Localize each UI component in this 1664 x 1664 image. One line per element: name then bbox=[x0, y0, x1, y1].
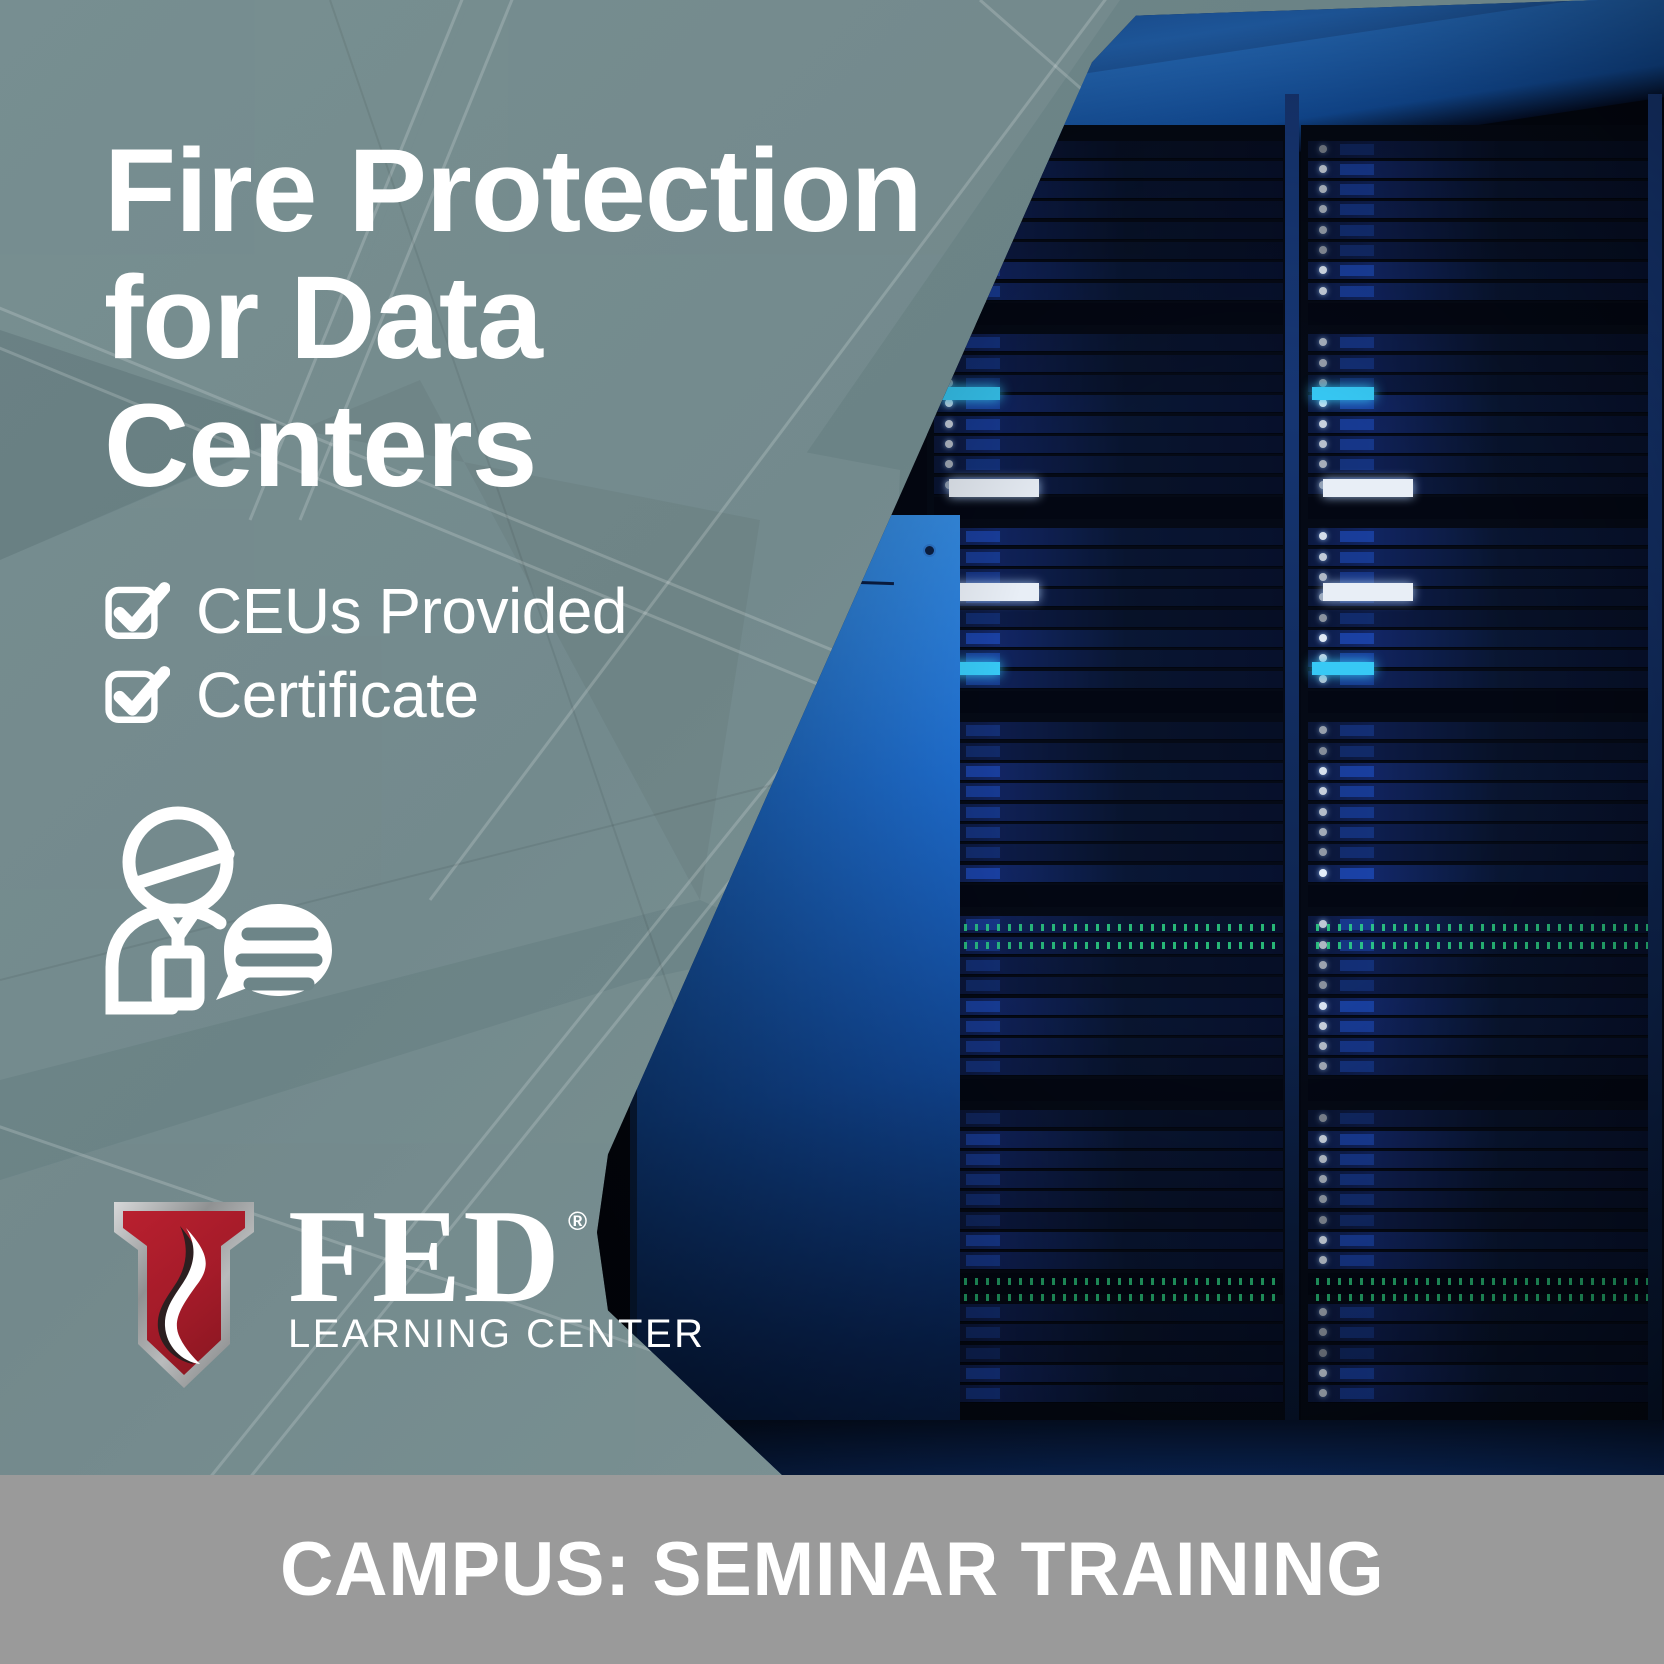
poster-canvas: Fire Protection for Data Centers CEUs Pr… bbox=[0, 0, 1664, 1664]
logo-wordmark-text: FED bbox=[288, 1202, 562, 1312]
registered-trademark-icon: ® bbox=[568, 1208, 589, 1234]
instructor-speech-icon bbox=[96, 800, 336, 1040]
feature-label: CEUs Provided bbox=[196, 579, 627, 643]
page-title: Fire Protection for Data Centers bbox=[104, 128, 1004, 510]
fed-flame-shield-icon bbox=[108, 1196, 260, 1392]
title-line-3: Centers bbox=[104, 383, 1004, 510]
logo-tagline: LEARNING CENTER bbox=[288, 1312, 706, 1356]
fed-learning-center-logo: FED ® LEARNING CENTER bbox=[108, 1196, 706, 1392]
campus-banner: CAMPUS: SEMINAR TRAINING bbox=[0, 1475, 1664, 1664]
checkbox-checked-icon bbox=[104, 578, 170, 644]
campus-banner-text: CAMPUS: SEMINAR TRAINING bbox=[280, 1526, 1384, 1613]
poster-content: Fire Protection for Data Centers CEUs Pr… bbox=[0, 0, 1010, 1490]
list-item: Certificate bbox=[104, 662, 627, 728]
checkbox-checked-icon bbox=[104, 662, 170, 728]
list-item: CEUs Provided bbox=[104, 578, 627, 644]
feature-list: CEUs Provided Certificate bbox=[104, 578, 627, 746]
logo-wordmark: FED ® bbox=[288, 1202, 706, 1312]
title-line-2: for Data bbox=[104, 255, 1004, 382]
feature-label: Certificate bbox=[196, 663, 479, 727]
logo-wordmark-block: FED ® LEARNING CENTER bbox=[288, 1196, 706, 1357]
title-line-1: Fire Protection bbox=[104, 128, 1004, 255]
